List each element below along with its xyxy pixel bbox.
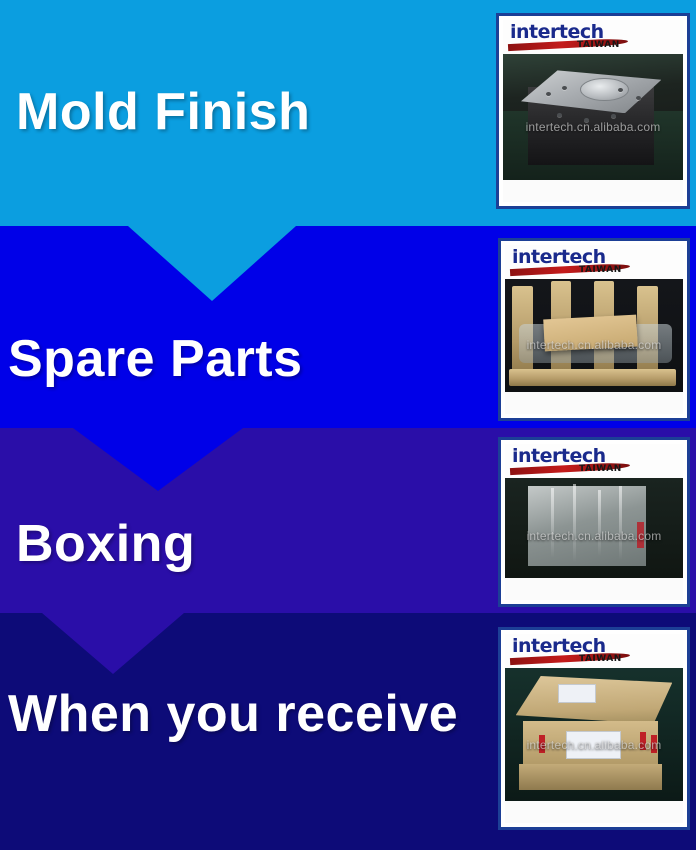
photo-image-spare-parts: intertech.cn.alibaba.com <box>505 279 683 392</box>
brand-logo-country: TAIWAN <box>577 40 620 50</box>
scene-shipping-label <box>566 731 621 760</box>
photo-image-when-you-receive: intertech.cn.alibaba.com <box>505 668 683 801</box>
brand-logo-strip: intertech TAIWAN <box>505 444 683 478</box>
brand-logo-country: TAIWAN <box>579 265 622 275</box>
photo-inner: intertech.cn.alibaba.com intertech TAIWA… <box>505 245 683 414</box>
brand-logo-strip: intertech TAIWAN <box>505 245 683 279</box>
photo-footer-plate <box>505 392 683 414</box>
chevron-down-icon <box>128 226 296 301</box>
photo-inner: intertech.cn.alibaba.com intertech TAIWA… <box>503 20 683 202</box>
scene-crate-base <box>519 764 661 791</box>
photo-footer-plate <box>505 578 683 600</box>
scene-bolt <box>562 86 567 90</box>
scene-crease <box>551 488 554 558</box>
scene-crease <box>598 490 601 556</box>
step-title-spare-parts: Spare Parts <box>8 333 303 385</box>
step-title-when-you-receive: When you receive <box>8 688 458 740</box>
photo-card-mold-finish: intertech.cn.alibaba.com intertech TAIWA… <box>496 13 690 209</box>
scene-crease <box>619 486 622 560</box>
brand-logo-strip: intertech TAIWAN <box>505 634 683 668</box>
chevron-down-icon <box>42 613 184 674</box>
photo-card-when-you-receive: intertech.cn.alibaba.com intertech TAIWA… <box>498 627 690 830</box>
scene-bolt <box>636 96 641 100</box>
step-title-boxing: Boxing <box>16 518 195 570</box>
photo-footer-plate <box>505 801 683 823</box>
slide-canvas: Mold Finish Spare Parts Boxing When you … <box>0 0 696 850</box>
brand-logo-country: TAIWAN <box>579 654 622 664</box>
photo-card-spare-parts: intertech.cn.alibaba.com intertech TAIWA… <box>498 238 690 421</box>
photo-image-mold-finish: intertech.cn.alibaba.com <box>503 54 683 180</box>
scene-red-seal <box>539 735 545 753</box>
chevron-down-icon <box>73 428 243 491</box>
scene-shipping-label <box>558 684 596 703</box>
photo-card-boxing: intertech.cn.alibaba.com intertech TAIWA… <box>498 437 690 607</box>
photo-inner: intertech.cn.alibaba.com intertech TAIWA… <box>505 634 683 823</box>
step-title-mold-finish: Mold Finish <box>16 86 310 138</box>
scene-cardboard-sheet <box>543 315 637 351</box>
brand-logo-strip: intertech TAIWAN <box>503 20 683 54</box>
scene-shrink-wrap <box>528 486 645 566</box>
scene-bolt <box>546 92 551 96</box>
photo-footer-plate <box>503 180 683 202</box>
scene-crease <box>573 484 576 562</box>
brand-logo-country: TAIWAN <box>579 464 622 474</box>
photo-inner: intertech.cn.alibaba.com intertech TAIWA… <box>505 444 683 600</box>
scene-red-tag <box>637 522 644 548</box>
scene-crate-base <box>509 369 676 386</box>
scene-red-seal <box>651 735 657 753</box>
scene-red-seal <box>640 732 646 750</box>
photo-image-boxing: intertech.cn.alibaba.com <box>505 478 683 578</box>
